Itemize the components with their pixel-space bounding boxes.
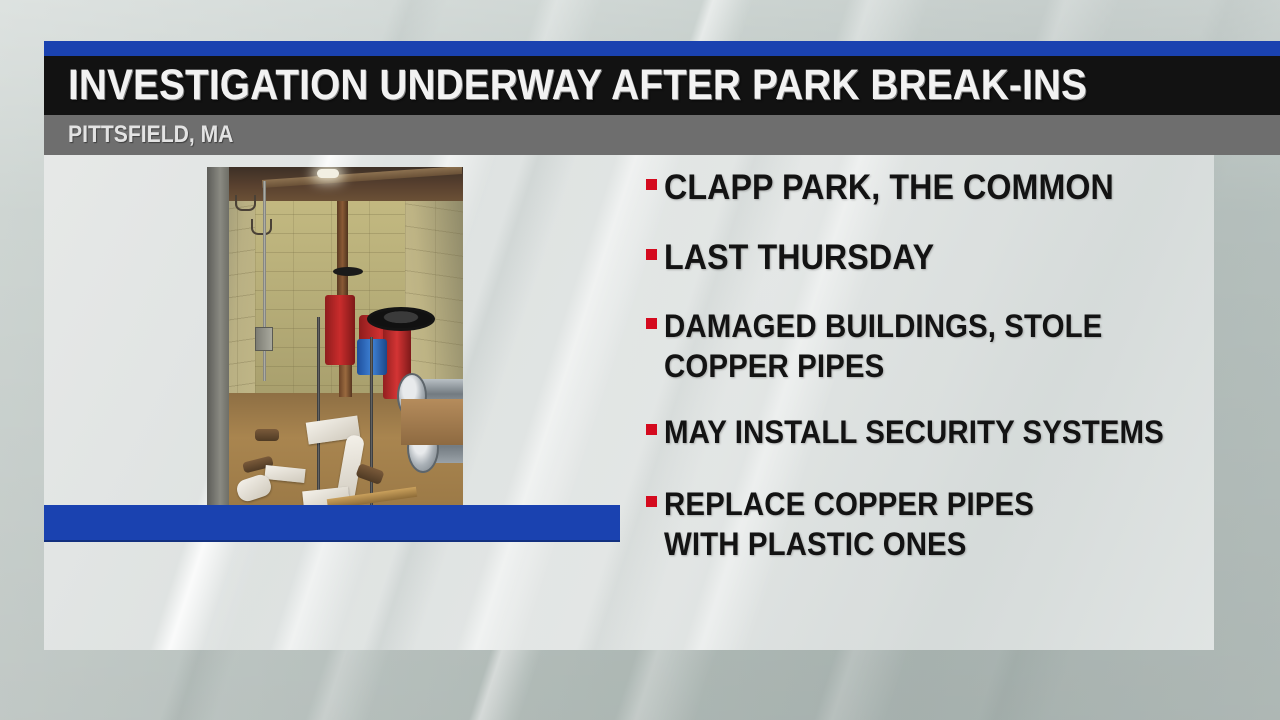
bullet-square-icon [646,496,657,507]
headline-bar: INVESTIGATION UNDERWAY AFTER PARK BREAK-… [44,56,1280,115]
photo-wall-hook [235,195,256,211]
list-item-label: MAY INSTALL SECURITY SYSTEMS [664,412,1164,452]
photo-underline-bar [44,505,620,542]
photo-conduit [263,181,266,381]
list-item: CLAPP PARK, THE COMMON [646,166,1214,210]
list-item-label: CLAPP PARK, THE COMMON [664,166,1114,210]
list-item: LAST THURSDAY [646,236,1214,280]
bullet-square-icon [646,249,657,260]
location-text: PITTSFIELD, MA [68,123,233,147]
header-accent-bar [44,41,1280,56]
list-item-label: LAST THURSDAY [664,236,934,280]
photo-pipe-scrap [255,429,279,441]
photo-small-handwheel [333,267,363,276]
list-item-label: REPLACE COPPER PIPES WITH PLASTIC ONES [664,484,1034,564]
broadcast-graphic: INVESTIGATION UNDERWAY AFTER PARK BREAK-… [0,0,1280,720]
photo-handwheel [367,307,435,331]
photo-scene [207,167,463,505]
list-item-label: DAMAGED BUILDINGS, STOLE COPPER PIPES [664,306,1170,386]
photo-ceiling-light [317,169,339,178]
list-item: REPLACE COPPER PIPES WITH PLASTIC ONES [646,484,1214,564]
photo-support-rod [317,317,320,505]
photo-left-pillar [207,167,229,505]
bullet-list: CLAPP PARK, THE COMMON LAST THURSDAY DAM… [646,166,1214,590]
list-item: MAY INSTALL SECURITY SYSTEMS [646,412,1214,452]
headline-text: INVESTIGATION UNDERWAY AFTER PARK BREAK-… [68,64,1087,107]
location-bar: PITTSFIELD, MA [44,115,1280,155]
list-item: DAMAGED BUILDINGS, STOLE COPPER PIPES [646,306,1214,386]
photo-cardboard-box [401,399,463,445]
photo-wall-hook [251,219,272,235]
bullet-square-icon [646,179,657,190]
news-photo [207,167,463,505]
bullet-square-icon [646,424,657,435]
photo-red-valve-body [325,295,355,365]
photo-junction-box [255,327,273,351]
bullet-square-icon [646,318,657,329]
